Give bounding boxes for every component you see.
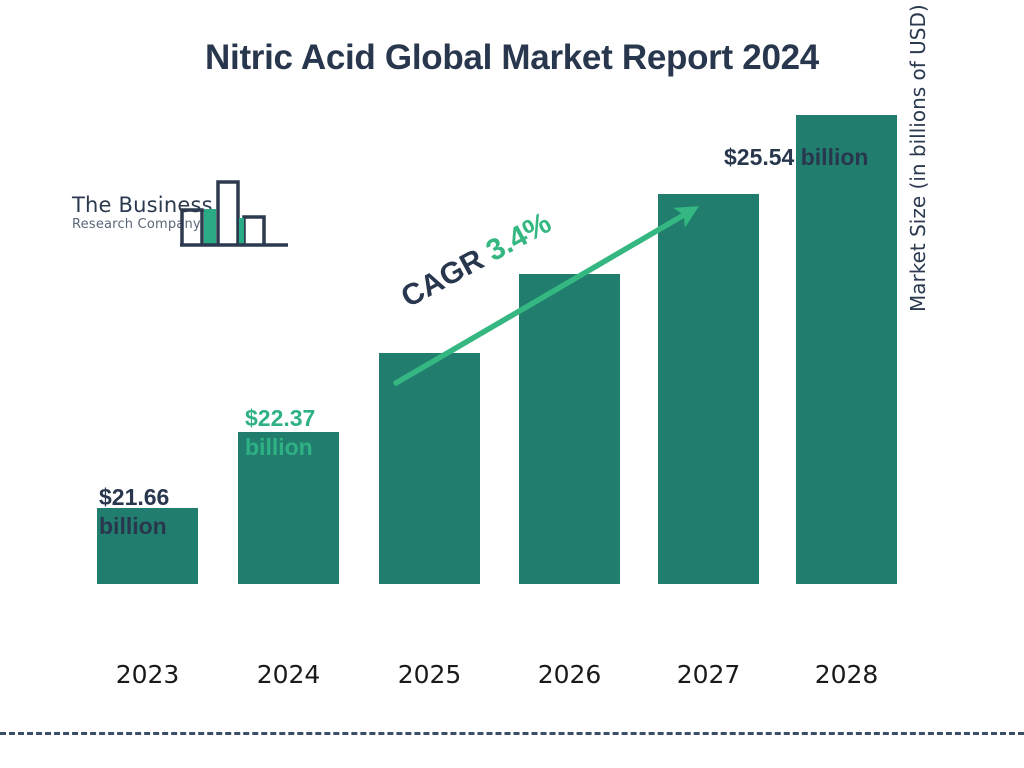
bar-value-label-2024: $22.37 billion: [245, 404, 315, 463]
x-tick-2023: 2023: [97, 660, 198, 689]
bar-2028: [796, 115, 897, 584]
bar-value-label-2028: $25.54 billion: [724, 143, 868, 172]
bar-chart-plot-area: $21.66 billion $22.37 billion $25.54 bil…: [0, 0, 1024, 700]
x-tick-2024: 2024: [238, 660, 339, 689]
bar-2025: [379, 353, 480, 584]
x-tick-2025: 2025: [379, 660, 480, 689]
bar-2027: [658, 194, 759, 584]
footer-divider: [0, 732, 1024, 735]
bar-value-label-2023: $21.66 billion: [99, 483, 169, 542]
x-tick-2027: 2027: [658, 660, 759, 689]
x-tick-2026: 2026: [519, 660, 620, 689]
y-axis-title: Market Size (in billions of USD): [898, 0, 938, 312]
bar-2026: [519, 274, 620, 584]
x-tick-2028: 2028: [796, 660, 897, 689]
